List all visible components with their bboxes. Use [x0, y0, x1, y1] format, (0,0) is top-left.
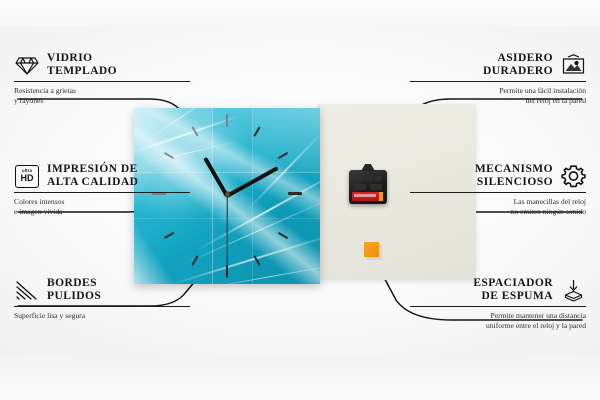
clock-center-pin	[225, 192, 230, 197]
clock-mechanism	[349, 170, 387, 204]
gear-icon	[560, 163, 586, 189]
feature-description: Permite mantener una distancia uniforme …	[410, 311, 586, 330]
ultra-hd-icon: ultra HD	[14, 163, 40, 189]
feature-vidrio-templado: VIDRIO TEMPLADO Resistencia a grietas y …	[14, 52, 190, 105]
product-infographic: VIDRIO TEMPLADO Resistencia a grietas y …	[0, 0, 600, 400]
feature-rule	[410, 81, 586, 82]
feature-description: Resistencia a grietas y rayones	[14, 86, 190, 105]
feature-rule	[14, 81, 190, 82]
feature-title: BORDES PULIDOS	[47, 277, 101, 303]
feature-mecanismo-silencioso: MECANISMO SILENCIOSO Las manecillas del …	[410, 163, 586, 216]
diamond-icon	[14, 52, 40, 78]
feature-asidero-duradero: ASIDERO DURADERO Permite una fácil insta…	[410, 52, 586, 105]
feature-description: Colores intensos e imagen vívida	[14, 197, 190, 216]
down-arrow-spacer-icon	[560, 277, 586, 303]
battery	[352, 192, 383, 201]
feature-rule	[14, 306, 190, 307]
feature-impresion-alta-calidad: ultra HD IMPRESIÓN DE ALTA CALIDAD Color…	[14, 163, 190, 216]
feature-espaciador-de-espuma: ESPACIADOR DE ESPUMA Permite mantener un…	[410, 277, 586, 330]
feature-rule	[410, 306, 586, 307]
foam-spacer-pad	[364, 242, 379, 257]
second-hand	[226, 196, 227, 268]
polished-edges-icon	[14, 277, 40, 303]
feature-title: VIDRIO TEMPLADO	[47, 52, 117, 78]
hour-hand	[203, 157, 228, 197]
feature-description: Las manecillas del reloj no emiten ningú…	[410, 197, 586, 216]
feature-description: Superficie lisa y segura	[14, 311, 190, 321]
picture-frame-hanger-icon	[560, 52, 586, 78]
feature-title: MECANISMO SILENCIOSO	[475, 163, 553, 189]
feature-rule	[14, 192, 190, 193]
feature-rule	[410, 192, 586, 193]
feature-title: ESPACIADOR DE ESPUMA	[473, 277, 553, 303]
feature-title: ASIDERO DURADERO	[483, 52, 553, 78]
feature-title: IMPRESIÓN DE ALTA CALIDAD	[47, 163, 138, 189]
feature-description: Permite una fácil instalación del reloj …	[410, 86, 586, 105]
feature-bordes-pulidos: BORDES PULIDOS Superficie lisa y segura	[14, 277, 190, 321]
